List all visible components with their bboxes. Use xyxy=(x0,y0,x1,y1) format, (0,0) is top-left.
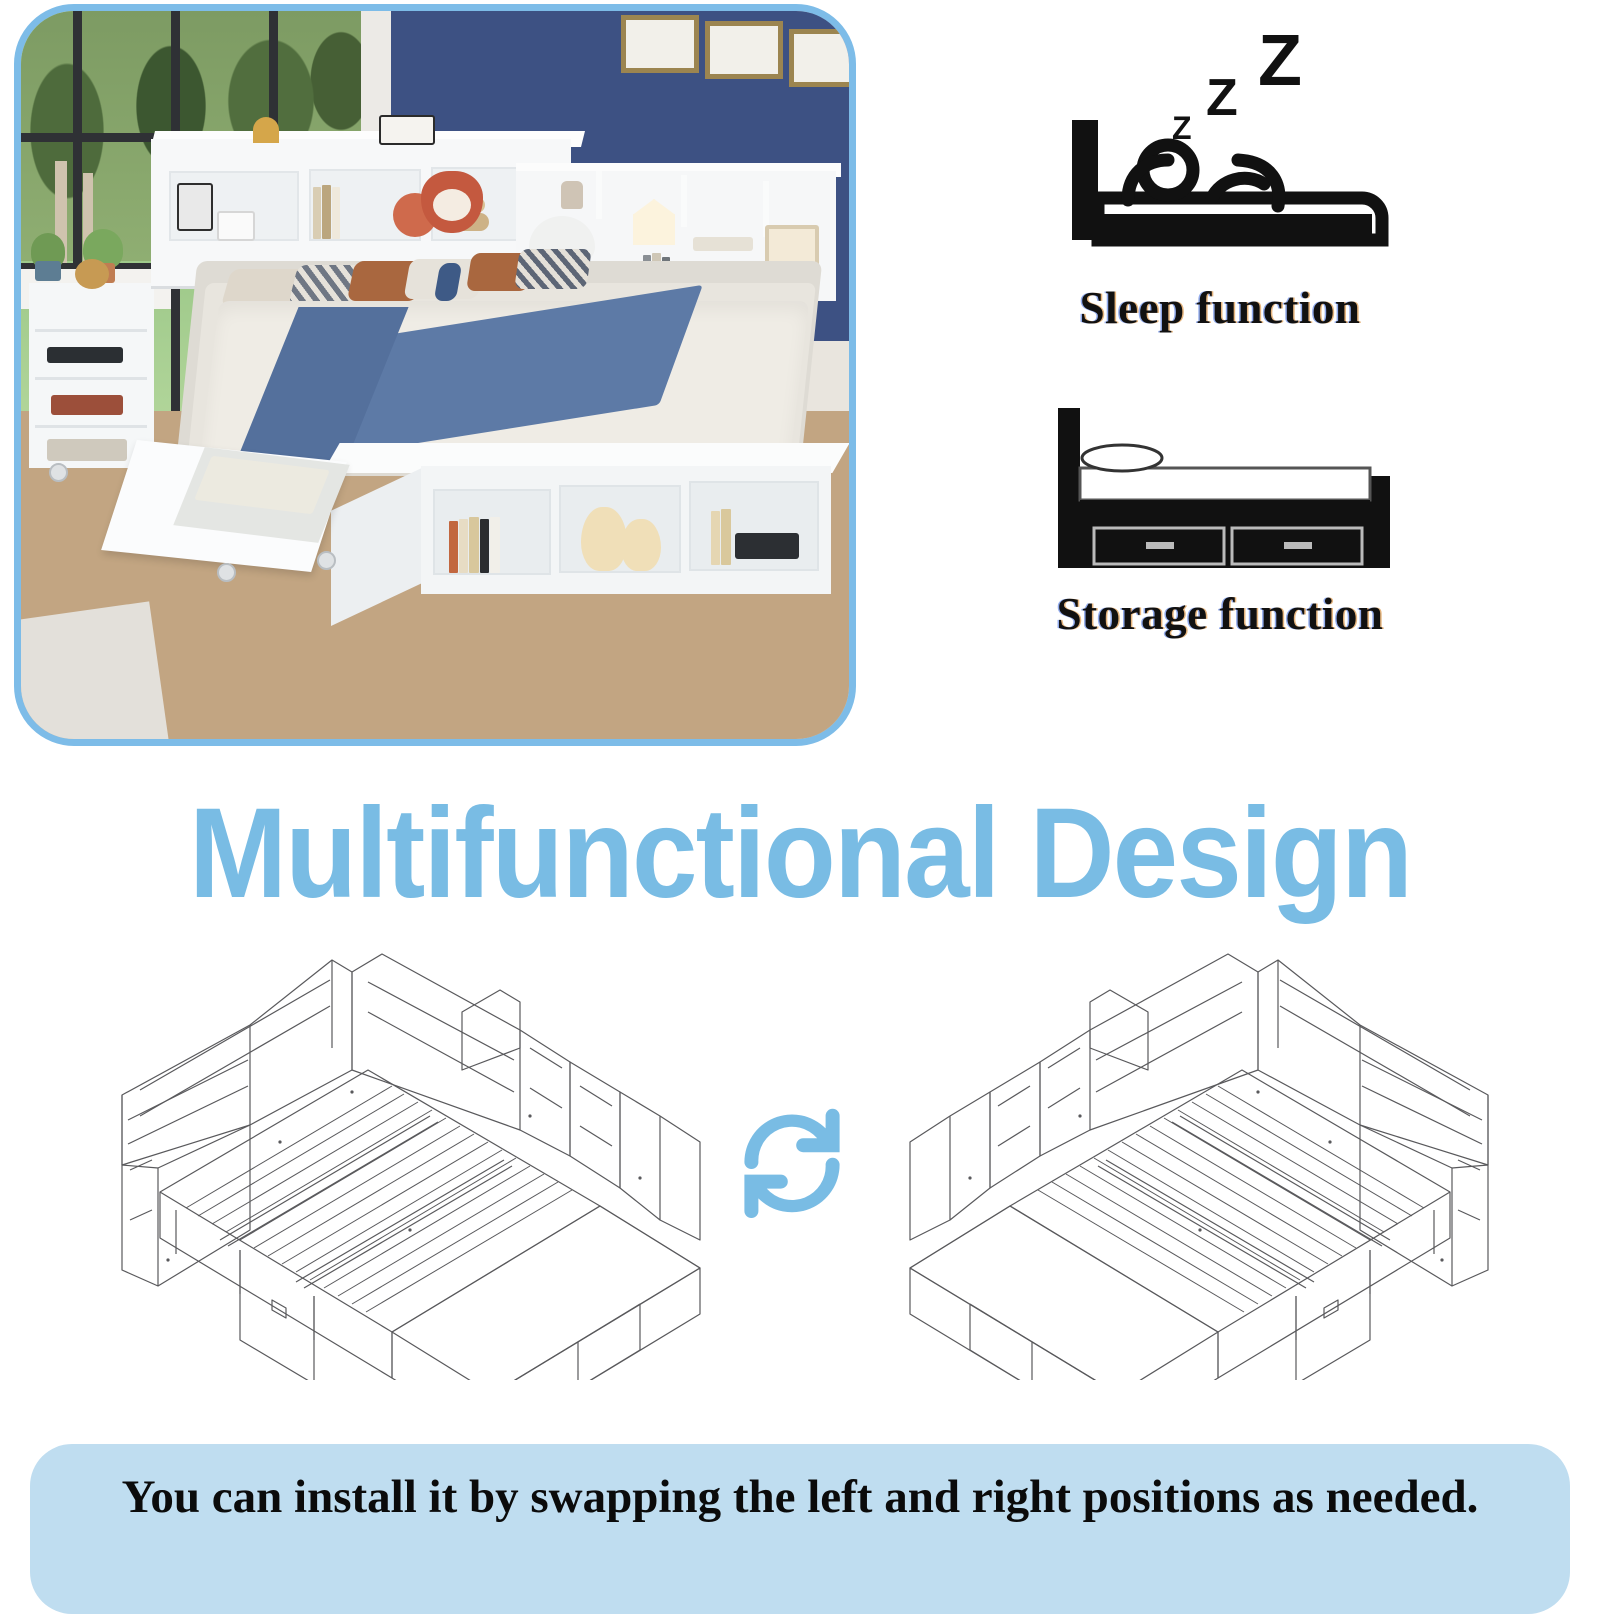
cart-books-2 xyxy=(47,439,127,461)
sleep-z-large: Z xyxy=(1258,20,1302,102)
feature-storage: Storage function xyxy=(1010,390,1430,650)
headboard-book-2 xyxy=(322,185,331,239)
bear-plush-2 xyxy=(621,519,661,571)
storage-bed-icon xyxy=(1050,402,1410,582)
headboard-radio xyxy=(217,211,255,241)
bed-diagram-right xyxy=(890,920,1510,1380)
drawer-caster-2 xyxy=(317,551,336,570)
cubby-book-6 xyxy=(711,511,720,565)
swap-icon xyxy=(722,1092,862,1232)
banner-text: You can install it by swapping the left … xyxy=(80,1466,1520,1528)
side-shelf-divider-2 xyxy=(681,175,687,227)
bedroom-photo xyxy=(21,11,849,739)
bear-plush-1 xyxy=(581,507,627,571)
drawer-caster-1 xyxy=(217,563,236,582)
bottom-banner: You can install it by swapping the left … xyxy=(30,1444,1570,1614)
refresh-swap-icon xyxy=(722,1092,862,1232)
cart-shelf-3 xyxy=(35,425,147,428)
sleep-function-label: Sleep function xyxy=(1010,282,1430,334)
cubby-stacked-books xyxy=(735,533,799,559)
desk-lamp xyxy=(253,117,279,143)
cart-books xyxy=(47,347,123,363)
cubby-book-2 xyxy=(459,519,468,573)
storage-function-label: Storage function xyxy=(1010,588,1430,640)
cart-caster xyxy=(49,463,68,482)
framed-art-3 xyxy=(789,29,849,87)
side-shelf-vase xyxy=(561,181,583,209)
plant-pot-1 xyxy=(35,261,61,281)
product-photo-panel xyxy=(14,4,856,746)
sleep-z-medium: Z xyxy=(1206,68,1238,128)
bed-diagram-left xyxy=(100,920,720,1380)
page-title: Multifunctional Design xyxy=(64,780,1536,927)
framed-art-1 xyxy=(621,15,699,73)
cubby-book-1 xyxy=(449,521,458,573)
area-rug xyxy=(21,601,171,739)
framed-art-2 xyxy=(705,21,783,79)
cubby-book-3 xyxy=(469,517,479,573)
headboard-book-3 xyxy=(332,187,340,239)
cart-shelf-2 xyxy=(35,377,147,380)
sleep-z-small: Z xyxy=(1172,110,1192,147)
headboard-book-1 xyxy=(313,187,321,239)
cubby-book-5 xyxy=(490,517,500,573)
cart-toy xyxy=(51,395,123,415)
pillow-6 xyxy=(514,249,592,289)
cubby-book-7 xyxy=(721,509,731,565)
fox-face xyxy=(433,189,471,221)
headboard-poster xyxy=(177,183,213,231)
feature-sleep: Z Z Z Sleep function xyxy=(1010,20,1430,350)
alarm-clock xyxy=(379,115,435,145)
cart-shelf-1 xyxy=(35,329,147,332)
side-shelf-divider-1 xyxy=(596,171,602,219)
side-shelf-books xyxy=(693,237,753,251)
cubby-book-4 xyxy=(480,519,489,573)
cart-ball xyxy=(75,259,109,289)
